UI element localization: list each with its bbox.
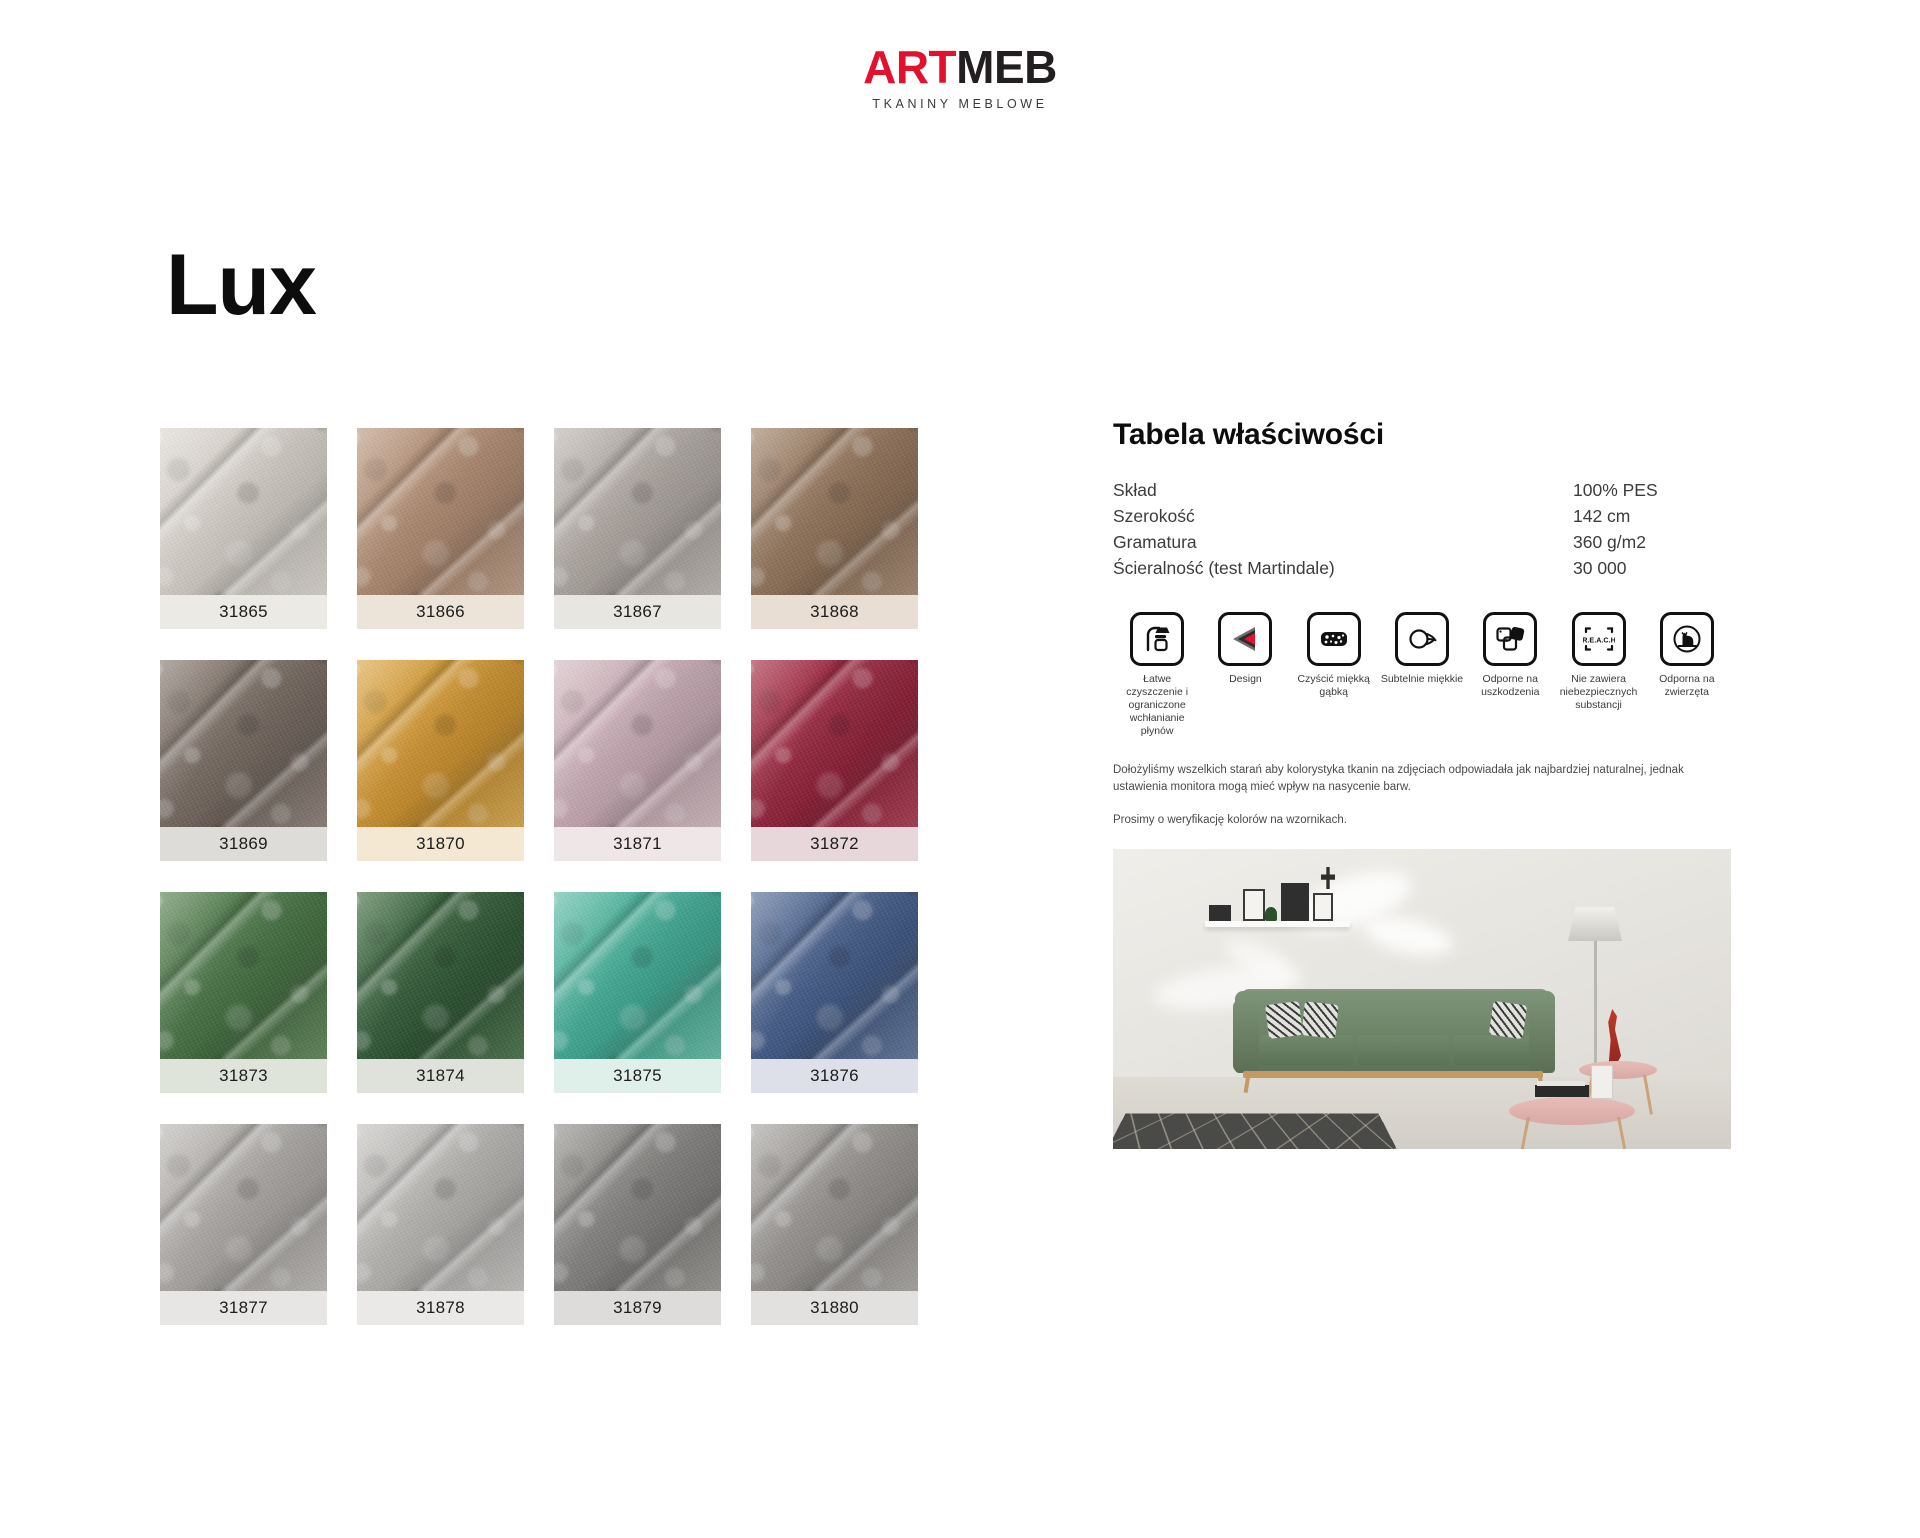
fabric-swatch[interactable]: 31869 [160, 660, 327, 861]
soft-touch-icon [1395, 612, 1449, 666]
property-row: Ścieralność (test Martindale)30 000 [1113, 556, 1731, 580]
fabric-swatch-image[interactable] [160, 1124, 327, 1291]
properties-table: Skład100% PESSzerokość142 cmGramatura360… [1113, 478, 1731, 580]
logo-meb-text: MEB [956, 41, 1057, 93]
interior-room-photo [1113, 849, 1731, 1149]
fabric-swatch-image[interactable] [751, 660, 918, 827]
fabric-swatch-image[interactable] [357, 892, 524, 1059]
property-key: Skład [1113, 478, 1573, 502]
fabric-swatch-code: 31870 [357, 827, 524, 861]
property-value: 360 g/m2 [1573, 530, 1731, 554]
fabric-swatch-code: 31875 [554, 1059, 721, 1093]
fabric-swatch-code: 31867 [554, 595, 721, 629]
fabric-swatch[interactable]: 31878 [357, 1124, 524, 1325]
fabric-swatch[interactable]: 31880 [751, 1124, 918, 1325]
property-value: 30 000 [1573, 556, 1731, 580]
fabric-swatch-image[interactable] [554, 428, 721, 595]
fabric-swatch-code: 31874 [357, 1059, 524, 1093]
fabric-texture-layer [554, 1124, 721, 1291]
fabric-swatch-code: 31866 [357, 595, 524, 629]
property-value: 142 cm [1573, 504, 1731, 528]
photo-throw-pillow [1301, 1001, 1338, 1038]
photo-floor-lamp-shade [1568, 907, 1622, 941]
disclaimer-paragraph-2: Prosimy o weryfikację kolorów na wzornik… [1113, 812, 1731, 829]
feature-caption: Nie zawiera niebezpiecznych substancji [1556, 673, 1640, 712]
fabric-texture-layer [751, 428, 918, 595]
photo-throw-pillow [1265, 1001, 1303, 1039]
fabric-texture-layer [357, 660, 524, 827]
photo-wall-shelf [1205, 921, 1350, 927]
fabric-swatch[interactable]: 31875 [554, 892, 721, 1093]
photo-shelf-letter [1209, 905, 1231, 921]
fabric-swatch[interactable]: 31871 [554, 660, 721, 861]
fabric-swatch-code: 31877 [160, 1291, 327, 1325]
fabric-texture-layer [751, 660, 918, 827]
fabric-swatch-image[interactable] [554, 1124, 721, 1291]
feature-item: Łatwe czyszczenie i ograniczone wchłania… [1113, 612, 1201, 738]
easy-clean-icon [1130, 612, 1184, 666]
photo-books [1537, 1081, 1585, 1086]
feature-caption: Odporna na zwierzęta [1645, 673, 1729, 699]
logo-tagline: TKANINY MEBLOWE [872, 97, 1047, 111]
photo-floor-lamp-pole [1594, 941, 1597, 1073]
fabric-swatch[interactable]: 31870 [357, 660, 524, 861]
photo-sofa-seat [1259, 1035, 1353, 1065]
photo-sofa-frame [1243, 1071, 1543, 1078]
fabric-swatch-image[interactable] [160, 892, 327, 1059]
fabric-swatch-code: 31872 [751, 827, 918, 861]
fabric-swatch-code: 31868 [751, 595, 918, 629]
fabric-swatch-image[interactable] [751, 1124, 918, 1291]
property-key: Szerokość [1113, 504, 1573, 528]
fabric-swatch[interactable]: 31877 [160, 1124, 327, 1325]
svg-text:R.E.A.C.H: R.E.A.C.H [1583, 636, 1615, 645]
feature-item: R.E.A.C.HNie zawiera niebezpiecznych sub… [1554, 612, 1642, 738]
page-title: Lux [166, 242, 316, 328]
fabric-texture-layer [357, 428, 524, 595]
fabric-swatch-code: 31865 [160, 595, 327, 629]
fabric-swatch-image[interactable] [751, 892, 918, 1059]
fabric-swatch[interactable]: 31873 [160, 892, 327, 1093]
fabric-swatch[interactable]: 31872 [751, 660, 918, 861]
fabric-swatch-image[interactable] [554, 660, 721, 827]
photo-shelf-frame [1243, 889, 1265, 921]
feature-item: Subtelnie miękkie [1378, 612, 1466, 738]
fabric-swatch-code: 31879 [554, 1291, 721, 1325]
fabric-swatch[interactable]: 31868 [751, 428, 918, 629]
photo-area-rug [1113, 1113, 1397, 1148]
feature-caption: Łatwe czyszczenie i ograniczone wchłania… [1115, 673, 1199, 738]
fabric-swatch[interactable]: 31867 [554, 428, 721, 629]
color-disclaimer: Dołożyliśmy wszelkich starań aby kolorys… [1113, 762, 1731, 829]
fabric-swatch-image[interactable] [554, 892, 721, 1059]
property-row: Skład100% PES [1113, 478, 1731, 502]
property-key: Gramatura [1113, 530, 1573, 554]
fabric-swatch[interactable]: 31865 [160, 428, 327, 629]
fabric-texture-layer [357, 1124, 524, 1291]
feature-caption: Subtelnie miękkie [1381, 673, 1463, 686]
fabric-texture-layer [751, 1124, 918, 1291]
photo-sofa-armrest [1529, 999, 1555, 1073]
photo-sofa-armrest [1233, 999, 1259, 1073]
property-row: Szerokość142 cm [1113, 504, 1731, 528]
fabric-swatch-grid: 3186531866318673186831869318703187131872… [160, 428, 920, 1325]
pet-friendly-icon [1660, 612, 1714, 666]
disclaimer-paragraph-1: Dołożyliśmy wszelkich starań aby kolorys… [1113, 762, 1731, 796]
fabric-swatch[interactable]: 31879 [554, 1124, 721, 1325]
fabric-swatch[interactable]: 31866 [357, 428, 524, 629]
property-value: 100% PES [1573, 478, 1731, 502]
photo-shelf-plant [1265, 907, 1277, 921]
properties-table-title: Tabela właściwości [1113, 418, 1731, 452]
fabric-swatch-image[interactable] [751, 428, 918, 595]
feature-caption: Design [1229, 673, 1262, 686]
damage-resistant-icon [1483, 612, 1537, 666]
fabric-texture-layer [160, 1124, 327, 1291]
fabric-swatch-code: 31876 [751, 1059, 918, 1093]
photo-books [1535, 1085, 1589, 1097]
feature-item: Odporna na zwierzęta [1643, 612, 1731, 738]
fabric-swatch-code: 31869 [160, 827, 327, 861]
fabric-swatch[interactable]: 31874 [357, 892, 524, 1093]
specification-column: Tabela właściwości Skład100% PESSzerokoś… [1113, 418, 1731, 1149]
fabric-swatch-code: 31871 [554, 827, 721, 861]
photo-shelf-frame [1281, 883, 1309, 921]
design-icon [1218, 612, 1272, 666]
property-key: Ścieralność (test Martindale) [1113, 556, 1573, 580]
fabric-texture-layer [554, 660, 721, 827]
property-row: Gramatura360 g/m2 [1113, 530, 1731, 554]
feature-caption: Czyścić miękką gąbką [1292, 673, 1376, 699]
photo-sofa-seat [1357, 1035, 1449, 1065]
logo-art-text: ART [863, 41, 956, 93]
fabric-swatch-code: 31880 [751, 1291, 918, 1325]
fabric-swatch-code: 31873 [160, 1059, 327, 1093]
sponge-icon [1307, 612, 1361, 666]
fabric-texture-layer [160, 428, 327, 595]
fabric-swatch-image[interactable] [160, 428, 327, 595]
fabric-swatch-image[interactable] [357, 1124, 524, 1291]
fabric-texture-layer [554, 428, 721, 595]
feature-icon-row: Łatwe czyszczenie i ograniczone wchłania… [1113, 612, 1731, 738]
fabric-swatch-code: 31878 [357, 1291, 524, 1325]
fabric-swatch-image[interactable] [357, 428, 524, 595]
photo-throw-pillow [1489, 1001, 1527, 1039]
feature-item: Odporne na uszkodzenia [1466, 612, 1554, 738]
fabric-texture-layer [554, 892, 721, 1059]
feature-item: Czyścić miękką gąbką [1290, 612, 1378, 738]
fabric-texture-layer [160, 892, 327, 1059]
feature-item: Design [1201, 612, 1289, 738]
photo-shelf-frame [1313, 893, 1333, 921]
fabric-texture-layer [357, 892, 524, 1059]
reach-icon: R.E.A.C.H [1572, 612, 1626, 666]
fabric-swatch-image[interactable] [357, 660, 524, 827]
photo-picture-card [1591, 1065, 1613, 1099]
fabric-swatch-image[interactable] [160, 660, 327, 827]
fabric-texture-layer [160, 660, 327, 827]
feature-caption: Odporne na uszkodzenia [1468, 673, 1552, 699]
fabric-swatch[interactable]: 31876 [751, 892, 918, 1093]
fabric-texture-layer [751, 892, 918, 1059]
site-header: ARTMEB TKANINY MEBLOWE [0, 44, 1920, 111]
artmeb-logo: ARTMEB [863, 44, 1057, 90]
